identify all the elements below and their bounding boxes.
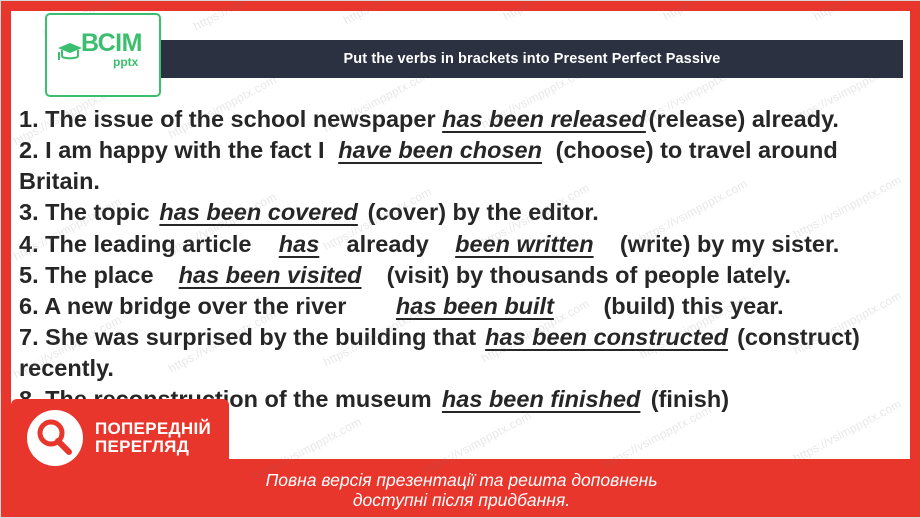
answer-blank[interactable]: has [258, 229, 340, 260]
badge-circle [27, 410, 83, 466]
exercise-item-5: 5. The place has been visited (visit) by… [19, 260, 909, 291]
page-title: Put the verbs in brackets into Present P… [344, 51, 721, 67]
item-number: 4. [19, 231, 39, 257]
footer-line-2: доступні після придбання. [1, 490, 921, 511]
preview-badge-text: ПОПЕРЕДНІЙ ПЕРЕГЛЯД [95, 420, 211, 457]
item-text-before: I am happy with the fact I [45, 137, 324, 163]
item-text-before: She was surprised by the building that [45, 324, 476, 350]
answer-blank[interactable]: has been constructed [483, 322, 731, 353]
frame-top [1, 1, 921, 11]
logo: ВСІМ pptx [45, 13, 161, 97]
exercise-item-4: 4. The leading article has already been … [19, 229, 909, 260]
slide: ВСІМ pptx Put the verbs in brackets into… [0, 0, 921, 518]
footer-line-1: Повна версія презентації та решта доповн… [1, 470, 921, 491]
item-text-before: The issue of the school newspaper [45, 106, 435, 132]
exercise-list: 1. The issue of the school newspaper has… [19, 104, 909, 415]
exercise-item-2: 2. I am happy with the fact I have been … [19, 135, 909, 197]
item-number: 7. [19, 324, 39, 350]
item-text-after: (visit) by thousands of people lately. [387, 262, 791, 288]
preview-badge-line2: ПЕРЕГЛЯД [95, 438, 211, 456]
frame-left [1, 1, 11, 518]
item-text-after: (cover) by the editor. [368, 199, 599, 225]
item-text-middle: already [347, 231, 429, 257]
exercise-item-3: 3. The topic has been covered (cover) by… [19, 197, 909, 228]
answer-blank[interactable]: has been released [442, 104, 642, 135]
exercise-item-7: 7. She was surprised by the building tha… [19, 322, 909, 384]
item-text-after: (write) by my sister. [620, 231, 839, 257]
logo-title: ВСІМ [81, 29, 142, 58]
answer-blank[interactable]: has been finished [438, 384, 644, 415]
exercise-item-1: 1. The issue of the school newspaper has… [19, 104, 909, 135]
preview-badge-line1: ПОПЕРЕДНІЙ [95, 420, 211, 438]
item-text-after: (build) this year. [603, 293, 783, 319]
item-number: 5. [19, 262, 39, 288]
exercise-item-6: 6. A new bridge over the river has been … [19, 291, 909, 322]
item-text-before: The leading article [45, 231, 251, 257]
answer-blank[interactable]: has been visited [160, 260, 380, 291]
magnifier-icon [27, 410, 83, 466]
graduation-cap-icon [57, 41, 83, 63]
title-bar: Put the verbs in brackets into Present P… [161, 40, 903, 78]
answer-blank[interactable]: has been covered [156, 197, 361, 228]
item-number: 3. [19, 199, 39, 225]
answer-blank[interactable]: have been chosen [331, 135, 549, 166]
item-text-after: (release) already. [649, 106, 839, 132]
frame-right [910, 1, 920, 518]
item-number: 6. [19, 293, 39, 319]
item-text-before: The place [45, 262, 153, 288]
item-text-after: (finish) [651, 386, 729, 412]
preview-badge: ПОПЕРЕДНІЙ ПЕРЕГЛЯД [11, 399, 229, 477]
answer-blank-2[interactable]: been written [435, 229, 613, 260]
footer-note: Повна версія презентації та решта доповн… [1, 470, 921, 511]
item-text-before: A new bridge over the river [44, 293, 346, 319]
answer-blank[interactable]: has been built [353, 291, 597, 322]
item-text-before: The topic [45, 199, 149, 225]
item-number: 1. [19, 106, 39, 132]
logo-subtitle: pptx [113, 55, 138, 69]
item-number: 2. [19, 137, 39, 163]
